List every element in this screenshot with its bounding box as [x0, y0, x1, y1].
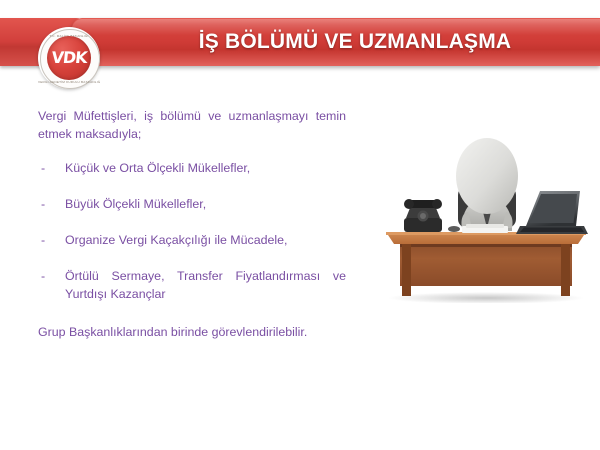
list-item-label: Organize Vergi Kaçakçılığı ile Mücadele,	[65, 232, 346, 250]
slide-header: İŞ BÖLÜMÜ VE UZMANLAŞMA T.C. MALİYE BAKA…	[0, 18, 600, 66]
desk	[386, 232, 586, 303]
list-item-label: Örtülü Sermaye, Transfer Fiyatlandırması…	[65, 268, 346, 304]
list-item: - Küçük ve Orta Ölçekli Mükellefler,	[38, 160, 346, 178]
rotary-telephone-icon	[404, 199, 442, 232]
desk-worker-illustration	[380, 128, 592, 303]
page-title: İŞ BÖLÜMÜ VE UZMANLAŞMA	[120, 18, 590, 66]
logo-monogram: VDK	[45, 36, 94, 80]
outro-paragraph: Grup Başkanlıklarından birinde görevlend…	[38, 324, 346, 342]
list-item: - Büyük Ölçekli Mükellefler,	[38, 196, 346, 214]
laptop-icon	[516, 191, 588, 234]
logo-inner-disc: VDK	[47, 36, 91, 80]
list-item-label: Büyük Ölçekli Mükellefler,	[65, 196, 346, 214]
intro-paragraph: Vergi Müfettişleri, iş bölümü ve uzmanla…	[38, 108, 346, 144]
list-item-label: Küçük ve Orta Ölçekli Mükellefler,	[65, 160, 346, 178]
list-item: - Örtülü Sermaye, Transfer Fiyatlandırma…	[38, 268, 346, 304]
slide-body: Vergi Müfettişleri, iş bölümü ve uzmanla…	[38, 108, 346, 342]
logo-bottom-text: VERGİ DENETİM KURULU BAŞKANLIĞI	[38, 80, 100, 84]
figure-head	[456, 138, 518, 214]
papers	[448, 224, 508, 233]
vdk-logo: T.C. MALİYE BAKANLIĞI VDK VERGİ DENETİM …	[38, 27, 100, 89]
bullet-dash-icon: -	[41, 268, 45, 286]
bullet-list: - Küçük ve Orta Ölçekli Mükellefler, - B…	[38, 160, 346, 304]
bullet-dash-icon: -	[41, 196, 45, 214]
bullet-dash-icon: -	[41, 232, 45, 250]
bullet-dash-icon: -	[41, 160, 45, 178]
list-item: - Organize Vergi Kaçakçılığı ile Mücadel…	[38, 232, 346, 250]
